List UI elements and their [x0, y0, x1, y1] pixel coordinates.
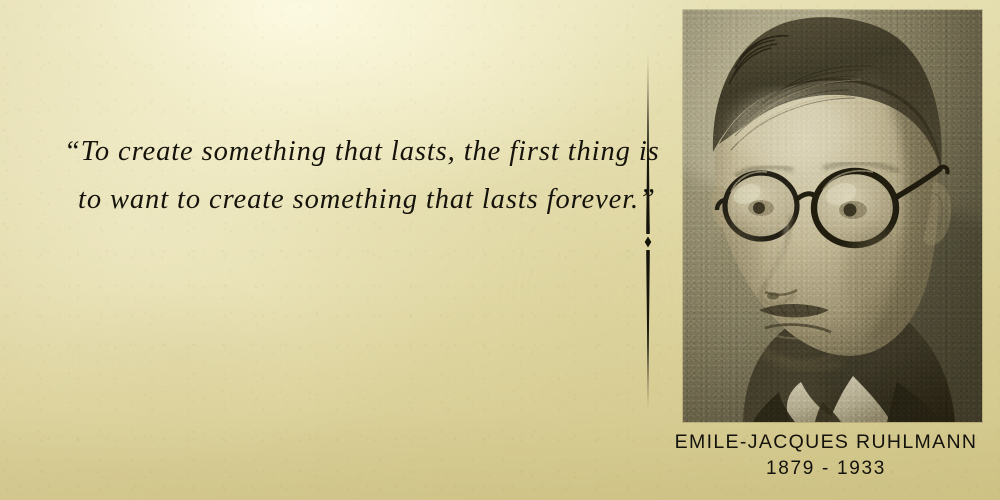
quote-banner: “To create something that lasts, the fir…: [0, 0, 1000, 500]
divider-spindle-lower: [646, 250, 650, 415]
quote-block: “To create something that lasts, the fir…: [40, 128, 680, 224]
caption-life-dates: 1879 - 1933: [666, 457, 986, 481]
portrait-photograph-icon: [683, 10, 982, 422]
caption-subject-name: EMILE-JACQUES RUHLMANN: [666, 430, 986, 454]
quote-line-1: “To create something that lasts, the fir…: [64, 128, 658, 176]
divider-center-diamond: [645, 237, 652, 248]
portrait-photograph: [683, 10, 982, 422]
portrait-caption: EMILE-JACQUES RUHLMANN 1879 - 1933: [666, 430, 986, 481]
divider-spindle-upper: [646, 47, 650, 234]
divider-ornament: [626, 0, 670, 500]
vertical-spindle-ornament-icon: [626, 0, 670, 500]
quote-line-2: to want to create something that lasts f…: [64, 176, 658, 224]
